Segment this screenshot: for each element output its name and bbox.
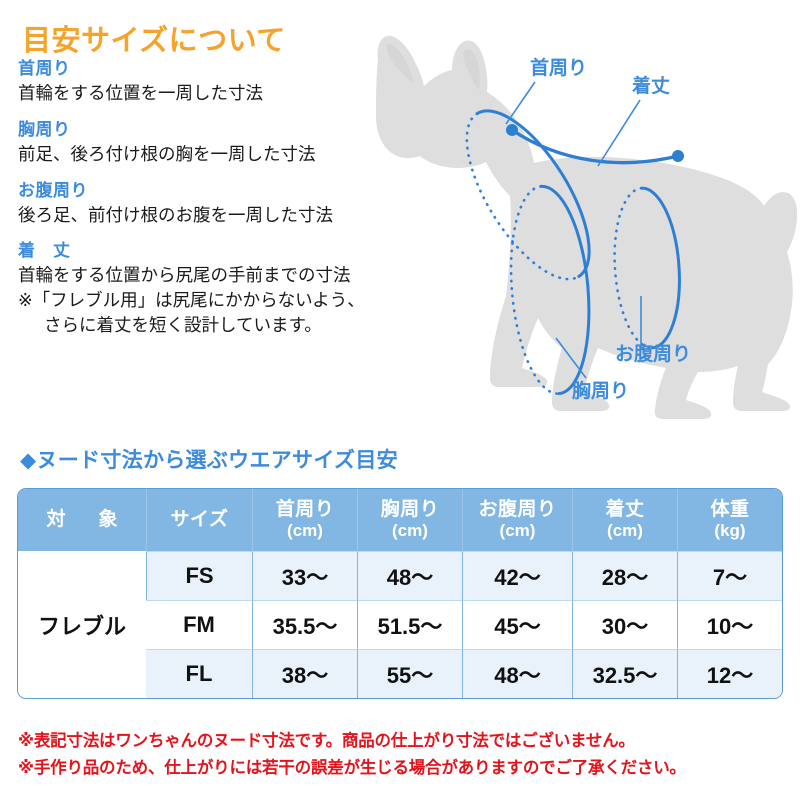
definition-chest: 胸周り 前足、後ろ付け根の胸を一周した寸法 — [18, 119, 418, 167]
col-header-neck-unit: (cm) — [253, 521, 357, 541]
cell-weight: 10～ — [677, 600, 782, 649]
diagram-label-length: 着丈 — [632, 74, 670, 97]
diagram-label-belly: お腹周り — [615, 342, 691, 365]
col-header-length-label: 着丈 — [573, 499, 677, 521]
cell-length: 28～ — [572, 551, 677, 600]
target-cell-furebburu: フレブル — [18, 551, 146, 698]
dog-measurement-diagram: 首周り 着丈 胸周り お腹周り — [360, 0, 800, 432]
cell-belly: 45～ — [462, 600, 572, 649]
diagram-label-chest: 胸周り — [572, 379, 629, 402]
definition-desc-length: 首輪をする位置から尻尾の手前までの寸法 — [18, 263, 418, 288]
definition-desc-belly: 後ろ足、前付け根のお腹を一周した寸法 — [18, 203, 418, 228]
table-header-row: 対 象 サイズ 首周り (cm) 胸周り (cm) お腹周り — [18, 489, 782, 551]
col-header-neck-label: 首周り — [253, 499, 357, 521]
footer-notes: ※表記寸法はワンちゃんのヌード寸法です。商品の仕上がり寸法ではございません。 ※… — [18, 728, 800, 781]
definition-desc-neck: 首輪をする位置を一周した寸法 — [18, 81, 418, 106]
cell-chest: 51.5～ — [357, 600, 462, 649]
col-header-belly-unit: (cm) — [463, 521, 572, 541]
definition-neck: 首周り 首輪をする位置を一周した寸法 — [18, 58, 418, 106]
definition-term-belly: お腹周り — [18, 180, 418, 203]
definition-length: 着 丈 首輪をする位置から尻尾の手前までの寸法 ※「フレブル用」は尻尾にかからな… — [18, 240, 418, 337]
cell-length: 32.5～ — [572, 649, 677, 698]
length-start-dot — [506, 124, 518, 136]
table-heading: ◆ヌード寸法から選ぶウエアサイズ目安 — [20, 444, 398, 474]
cell-belly: 48～ — [462, 649, 572, 698]
col-header-length: 着丈 (cm) — [572, 489, 677, 551]
definition-belly: お腹周り 後ろ足、前付け根のお腹を一周した寸法 — [18, 180, 418, 228]
footer-note-1: ※表記寸法はワンちゃんのヌード寸法です。商品の仕上がり寸法ではございません。 — [18, 728, 800, 755]
definition-note-line2: さらに着丈を短く設計しています。 — [18, 313, 418, 338]
col-header-weight-label: 体重 — [678, 499, 782, 521]
neck-leader-line — [506, 82, 535, 124]
definition-term-length: 着 丈 — [18, 240, 418, 263]
col-header-length-unit: (cm) — [573, 521, 677, 541]
cell-weight: 12～ — [677, 649, 782, 698]
diagram-label-neck: 首周り — [530, 56, 587, 79]
col-header-size-label: サイズ — [147, 509, 252, 531]
col-header-chest-unit: (cm) — [358, 521, 462, 541]
col-header-weight-unit: (kg) — [678, 521, 782, 541]
definition-note-line1: ※「フレブル用」は尻尾にかからないよう、 — [18, 288, 418, 313]
col-header-target-label: 対 象 — [18, 509, 146, 531]
table-body: フレブル FS 33～ 48～ 42～ 28～ 7～ FM 35.5～ 51.5… — [18, 551, 782, 698]
size-guide-top-section: 目安サイズについて 首周り 首輪をする位置を一周した寸法 胸周り 前足、後ろ付け… — [0, 0, 800, 432]
cell-neck: 35.5～ — [252, 600, 357, 649]
definition-term-chest: 胸周り — [18, 119, 418, 142]
col-header-chest-label: 胸周り — [358, 499, 462, 521]
cell-chest: 55～ — [357, 649, 462, 698]
cell-size: FS — [146, 551, 252, 600]
col-header-size: サイズ — [146, 489, 252, 551]
size-table-wrapper: 対 象 サイズ 首周り (cm) 胸周り (cm) お腹周り — [17, 488, 783, 699]
col-header-belly: お腹周り (cm) — [462, 489, 572, 551]
definition-desc-chest: 前足、後ろ付け根の胸を一周した寸法 — [18, 142, 418, 167]
length-leader-line — [598, 100, 640, 166]
cell-size: FL — [146, 649, 252, 698]
table-row: フレブル FS 33～ 48～ 42～ 28～ 7～ — [18, 551, 782, 600]
cell-neck: 33～ — [252, 551, 357, 600]
cell-belly: 42～ — [462, 551, 572, 600]
col-header-neck: 首周り (cm) — [252, 489, 357, 551]
definition-term-neck: 首周り — [18, 58, 418, 81]
size-table: 対 象 サイズ 首周り (cm) 胸周り (cm) お腹周り — [17, 488, 783, 699]
cell-weight: 7～ — [677, 551, 782, 600]
page-title: 目安サイズについて — [22, 17, 286, 59]
measurement-definition-list: 首周り 首輪をする位置を一周した寸法 胸周り 前足、後ろ付け根の胸を一周した寸法… — [18, 58, 418, 351]
col-header-weight: 体重 (kg) — [677, 489, 782, 551]
cell-length: 30～ — [572, 600, 677, 649]
length-end-dot — [672, 150, 684, 162]
col-header-chest: 胸周り (cm) — [357, 489, 462, 551]
cell-neck: 38～ — [252, 649, 357, 698]
cell-size: FM — [146, 600, 252, 649]
col-header-belly-label: お腹周り — [463, 499, 572, 521]
footer-note-2: ※手作り品のため、仕上がりには若干の誤差が生じる場合がありますのでご了承ください… — [18, 755, 800, 782]
col-header-target: 対 象 — [18, 489, 146, 551]
cell-chest: 48～ — [357, 551, 462, 600]
